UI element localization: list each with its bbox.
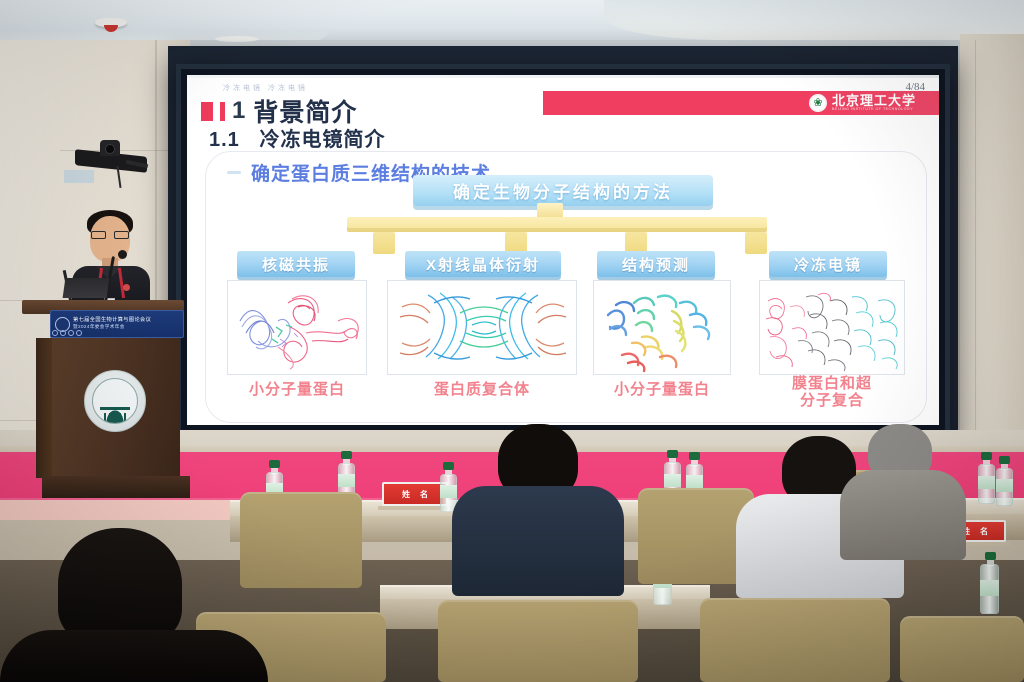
- glasses-icon: [91, 231, 129, 239]
- bracket-leg: [745, 232, 767, 254]
- diagram-title-card: 确定生物分子结构的方法: [413, 175, 713, 206]
- name-placard: 姓 名: [382, 482, 448, 506]
- title-marker-small-icon: [220, 102, 225, 121]
- branch-caption-0: 小分子量蛋白: [227, 381, 367, 398]
- slide-top-line: [187, 75, 939, 78]
- branch-label-3: 冷冻电镜: [794, 254, 862, 275]
- branch-label-card: 结构预测: [597, 251, 715, 277]
- branch-caption-3: 膜蛋白和超 分子复合: [759, 375, 905, 409]
- microphone-head-icon: [118, 250, 127, 259]
- chair: [240, 492, 362, 588]
- structure-image-xray: [387, 280, 577, 375]
- nmr-ensemble-ribbon-structure: [228, 281, 367, 375]
- foreground-person-head: [58, 528, 182, 644]
- title-marker-icon: [201, 102, 213, 121]
- university-name-cn: 北京理工大学: [832, 94, 916, 107]
- branch-label-0: 核磁共振: [262, 254, 330, 275]
- podium: 第七届全国生物计算与图论会议 暨2024年委会学术年会: [22, 300, 184, 500]
- placard-text-right: 名: [980, 526, 988, 537]
- branch-caption-2: 小分子量蛋白: [593, 381, 731, 398]
- projection-screen[interactable]: 冷冻电镜 冷冻电镜 4/84 1 背景简介 ❀ 北京理工大学 BEIJING I: [176, 64, 950, 436]
- university-seal-icon: ❀: [809, 94, 827, 112]
- branch-label-2: 结构预测: [622, 254, 690, 275]
- conference-banner-line2: 暨2024年委会学术年会: [73, 324, 151, 329]
- branch-label-card: X射线晶体衍射: [405, 251, 561, 277]
- branch-label-card: 冷冻电镜: [769, 251, 887, 277]
- cryoem-dense-complex-structure: [760, 281, 905, 375]
- placard-text-left: 姓: [402, 489, 410, 500]
- laptop: [63, 278, 110, 298]
- university-crest-icon: [84, 370, 146, 432]
- person-body: [452, 486, 624, 596]
- chair: [438, 600, 638, 682]
- bullet-dash-icon: [227, 171, 241, 174]
- seal-glyph: ❀: [813, 98, 822, 109]
- chair: [700, 598, 890, 682]
- section-number: 1: [232, 97, 246, 125]
- branch-caption-3-line1: 膜蛋白和超: [759, 375, 905, 392]
- banner-sponsor-icons: [52, 330, 82, 336]
- title-banner-stripe: [543, 91, 801, 115]
- podium-base: [42, 476, 190, 498]
- diagram-title-text: 确定生物分子结构的方法: [453, 178, 673, 203]
- shirt-logo-icon: [123, 284, 130, 291]
- subsection-number: 1.1: [209, 129, 240, 151]
- branch-caption-3-line2: 分子复合: [759, 392, 905, 409]
- person-body: [840, 470, 966, 560]
- bracket-bar: [347, 217, 767, 232]
- presentation-slide: 冷冻电镜 冷冻电镜 4/84 1 背景简介 ❀ 北京理工大学 BEIJING I: [187, 75, 939, 425]
- placard-text-right: 名: [420, 489, 428, 500]
- xray-symmetric-complex-structure: [388, 281, 577, 375]
- structure-image-nmr: [227, 280, 367, 375]
- predicted-helical-fold-structure: [594, 281, 731, 375]
- branch-caption-1: 蛋白质复合体: [387, 381, 577, 398]
- structure-image-cryoem: [759, 280, 905, 375]
- chair: [900, 616, 1024, 682]
- branch-label-1: X射线晶体衍射: [426, 254, 540, 275]
- branch-label-card: 核磁共振: [237, 251, 355, 277]
- subsection-title: 冷冻电镜简介: [259, 129, 385, 151]
- slide-faint-header: 冷冻电镜 冷冻电镜: [223, 83, 308, 93]
- subsection-heading: 1.1 冷冻电镜简介: [209, 123, 385, 152]
- ceiling-light: [215, 36, 259, 42]
- structure-image-prediction: [593, 280, 731, 375]
- camera-lens-icon: [105, 144, 115, 154]
- camera-mount: [64, 170, 94, 183]
- university-name-en: BEIJING INSTITUTE OF TECHNOLOGY: [832, 108, 916, 112]
- bracket-leg: [373, 232, 395, 254]
- foreground-person-shoulders: [0, 630, 268, 682]
- university-logo: ❀ 北京理工大学 BEIJING INSTITUTE OF TECHNOLOGY: [801, 91, 939, 115]
- conference-room-scene: 冷冻电镜 冷冻电镜 4/84 1 背景简介 ❀ 北京理工大学 BEIJING I: [0, 0, 1024, 682]
